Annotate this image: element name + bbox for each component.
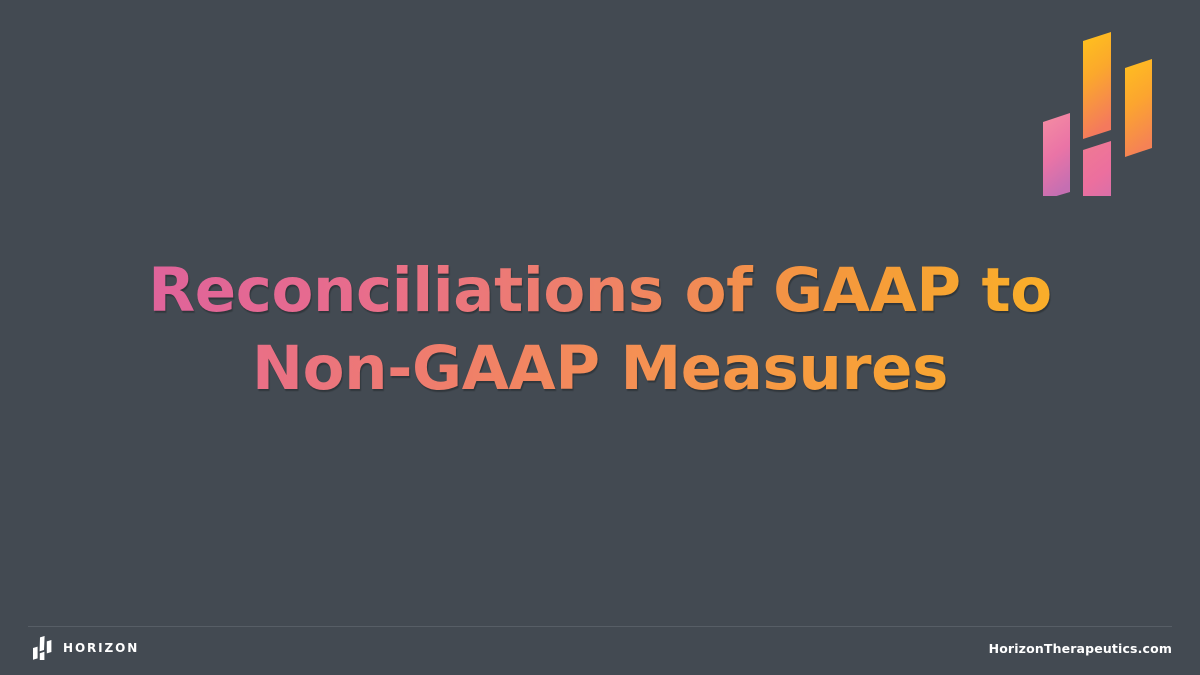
logo-bar-center-bottom (1083, 141, 1111, 196)
footer-website-url: HorizonTherapeutics.com (989, 643, 1172, 656)
slide-footer: HORIZON HorizonTherapeutics.com (0, 627, 1200, 675)
presentation-slide: Reconciliations of GAAP to Non-GAAP Meas… (0, 0, 1200, 675)
horizon-logo-mark (1032, 26, 1166, 196)
footer-wordmark: HORIZON (63, 642, 139, 654)
slide-title-line-2: Non-GAAP Measures (0, 330, 1200, 408)
slide-title: Reconciliations of GAAP to Non-GAAP Meas… (0, 252, 1200, 408)
logo-bar-center-top (1083, 32, 1111, 139)
footer-logo: HORIZON (32, 636, 139, 660)
slide-title-line-1: Reconciliations of GAAP to (0, 252, 1200, 330)
logo-bar-right (1125, 59, 1152, 157)
logo-bar-left (1043, 113, 1070, 196)
horizon-logo-mark-white (32, 636, 54, 660)
